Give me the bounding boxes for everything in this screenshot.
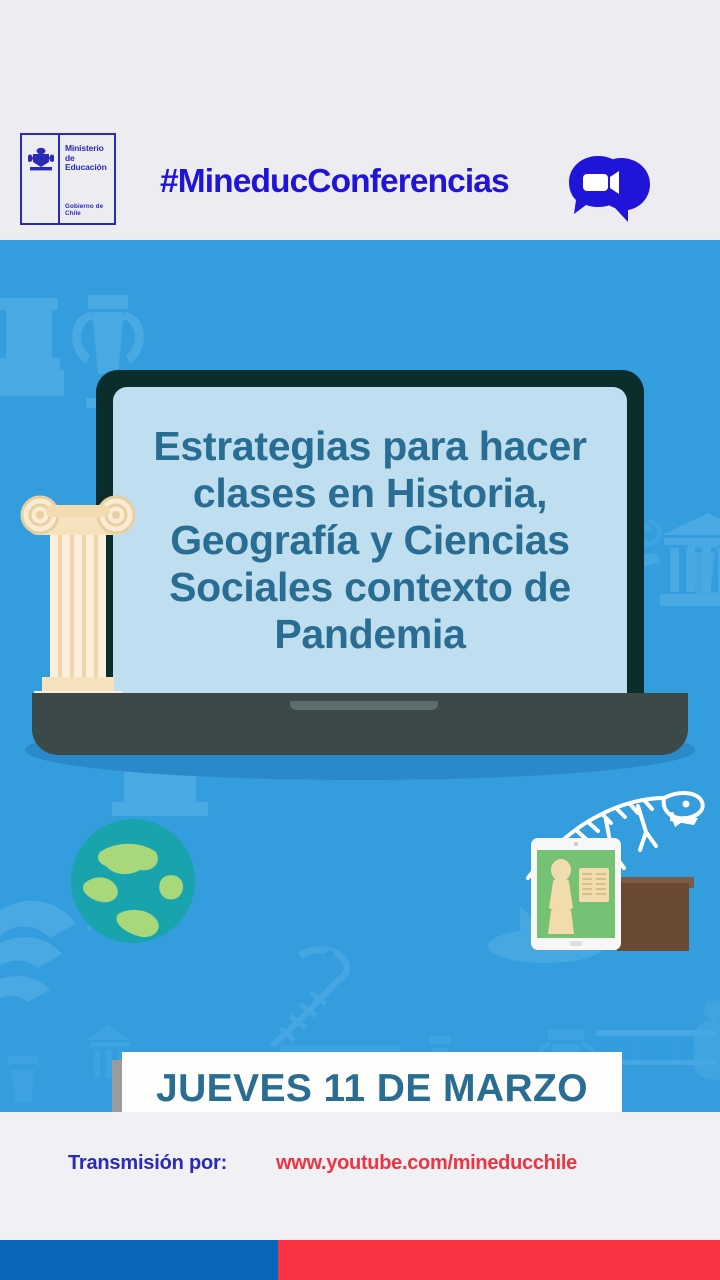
ministry-name: Ministerio de Educación [65, 144, 114, 173]
globe-icon [70, 818, 196, 944]
hashtag-title: #MineducConferencias [160, 160, 560, 204]
ministry-line-2: Educación [65, 162, 107, 172]
conference-title: Estrategias para hacer clases en Histori… [120, 423, 620, 658]
flag-bar-red [278, 1240, 720, 1280]
laptop-trackpad-notch [290, 701, 438, 710]
poster-header: Ministerio de Educación Gobierno de Chil… [0, 0, 720, 240]
transmission-label: Transmisión por: [68, 1152, 227, 1175]
trophy-icon [8, 1056, 38, 1102]
conference-poster: Ministerio de Educación Gobierno de Chil… [0, 0, 720, 1280]
government-name: Gobierno de Chile [65, 203, 114, 217]
event-date: JUEVES 11 DE MARZO [156, 1065, 588, 1112]
tablet-icon [531, 838, 621, 950]
poster-footer [0, 1112, 720, 1240]
logo-text-panel: Ministerio de Educación Gobierno de Chil… [60, 135, 114, 223]
pedestal-icon [617, 883, 689, 951]
ministry-line-1: Ministerio de [65, 143, 104, 163]
chile-coat-of-arms-icon [27, 146, 55, 172]
video-chat-bubble-icon [566, 150, 654, 228]
statue-icon [694, 1000, 720, 1080]
logo-crest-panel [22, 135, 60, 223]
helmet-icon [0, 901, 76, 1002]
poster-main: Estrategias para hacer clases en Histori… [0, 240, 720, 1112]
ionic-column-icon [8, 485, 148, 715]
column-icon [0, 298, 64, 396]
flag-bar-blue [0, 1240, 278, 1280]
dinosaur-skeleton-icon [272, 950, 347, 1046]
transmission-url[interactable]: www.youtube.com/mineducchile [276, 1152, 577, 1175]
event-date-box: JUEVES 11 DE MARZO 15:30 HRS [122, 1052, 622, 1112]
mineduc-logo: Ministerio de Educación Gobierno de Chil… [20, 133, 116, 225]
